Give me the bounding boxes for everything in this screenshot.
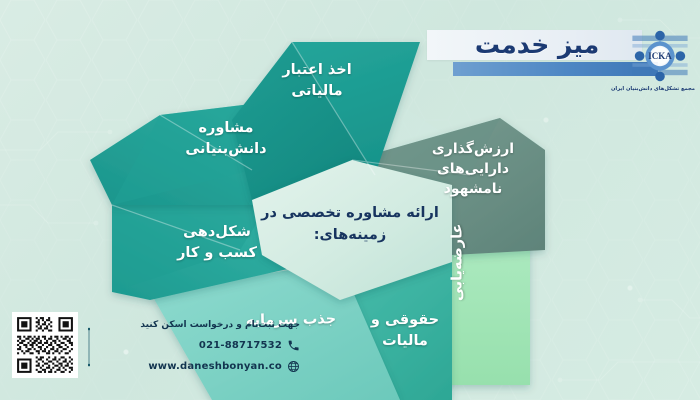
footer-phone-row[interactable]: 021-88717532	[100, 335, 300, 356]
phone-icon	[287, 339, 300, 352]
footer-divider	[88, 308, 90, 386]
globe-icon	[287, 360, 300, 373]
page-title: میز خدمت	[452, 28, 622, 62]
scan-instruction-text: جهت ثبت‌نام و درخواست اسکن کنید	[140, 320, 300, 330]
footer-contact-lines: جهت ثبت‌نام و درخواست اسکن کنید 021-8871…	[100, 314, 300, 377]
registration-qr-code[interactable]	[12, 312, 78, 378]
organization-logo: ICKA مجمع تشکل‌های دانش‌بنیان ایران	[628, 26, 692, 104]
logo-caption: مجمع تشکل‌های دانش‌بنیان ایران	[625, 86, 695, 92]
contact-footer: جهت ثبت‌نام و درخواست اسکن کنید 021-8871…	[8, 306, 308, 390]
footer-scan-row: جهت ثبت‌نام و درخواست اسکن کنید	[100, 314, 300, 335]
phone-number: 021-88717532	[199, 340, 282, 351]
footer-website-row[interactable]: www.daneshbonyan.co	[100, 356, 300, 377]
website-url: www.daneshbonyan.co	[148, 361, 282, 372]
icka-circular-people-logo: ICKA	[630, 26, 690, 86]
logo-wordmark: ICKA	[648, 51, 672, 61]
